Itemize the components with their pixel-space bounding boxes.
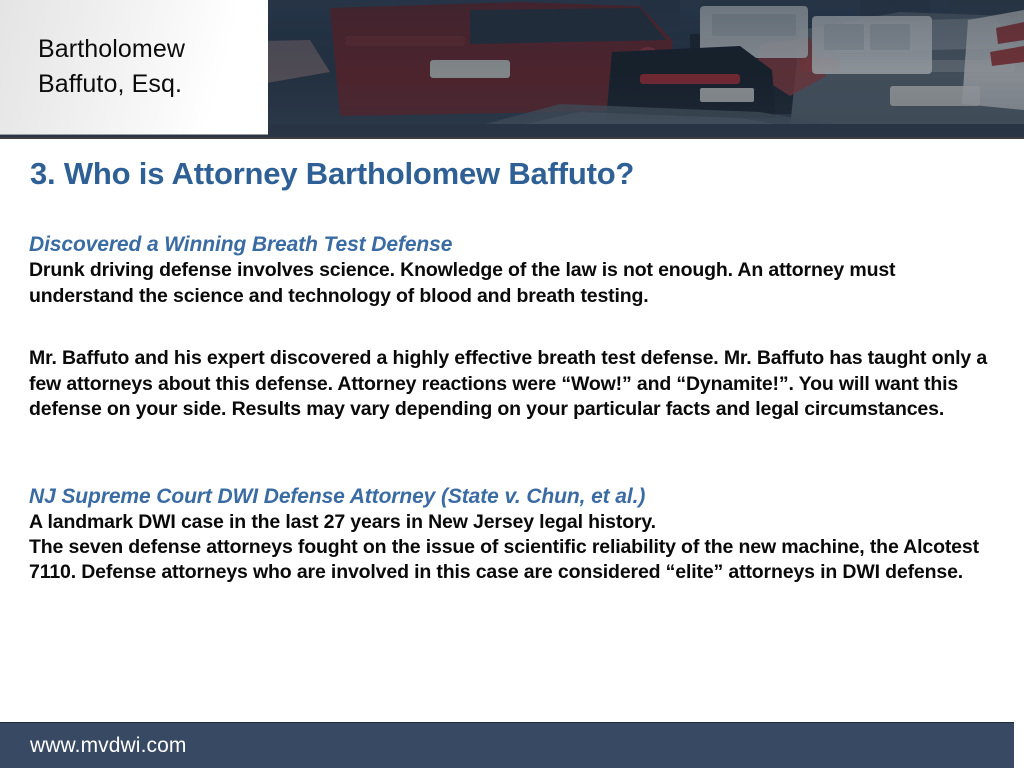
- attorney-name-line-1: Bartholomew: [38, 32, 268, 67]
- section-one-heading: Discovered a Winning Breath Test Defense: [29, 232, 1004, 258]
- attorney-name-line-2: Baffuto, Esq.: [38, 67, 268, 102]
- section-one-paragraph-2: Mr. Baffuto and his expert discovered a …: [29, 346, 1004, 423]
- section-two-paragraph-2: The seven defense attorneys fought on th…: [29, 535, 1004, 585]
- section-one-paragraph-1: Drunk driving defense involves science. …: [29, 258, 1004, 309]
- section-two-paragraph-1: A landmark DWI case in the last 27 years…: [29, 510, 1004, 535]
- slide-content: 3. Who is Attorney Bartholomew Baffuto? …: [0, 139, 1024, 722]
- footer-website-link[interactable]: www.mvdwi.com: [0, 734, 186, 758]
- header-banner: Bartholomew Baffuto, Esq.: [0, 0, 1024, 139]
- section-two-heading: NJ Supreme Court DWI Defense Attorney (S…: [29, 484, 1004, 510]
- page-title: 3. Who is Attorney Bartholomew Baffuto?: [30, 156, 634, 192]
- section-two: NJ Supreme Court DWI Defense Attorney (S…: [29, 484, 1004, 585]
- section-one-paragraph-2-wrap: Mr. Baffuto and his expert discovered a …: [29, 346, 1004, 423]
- footer-bar: www.mvdwi.com: [0, 722, 1014, 768]
- attorney-name-plate: Bartholomew Baffuto, Esq.: [0, 0, 268, 135]
- section-one: Discovered a Winning Breath Test Defense…: [29, 232, 1004, 309]
